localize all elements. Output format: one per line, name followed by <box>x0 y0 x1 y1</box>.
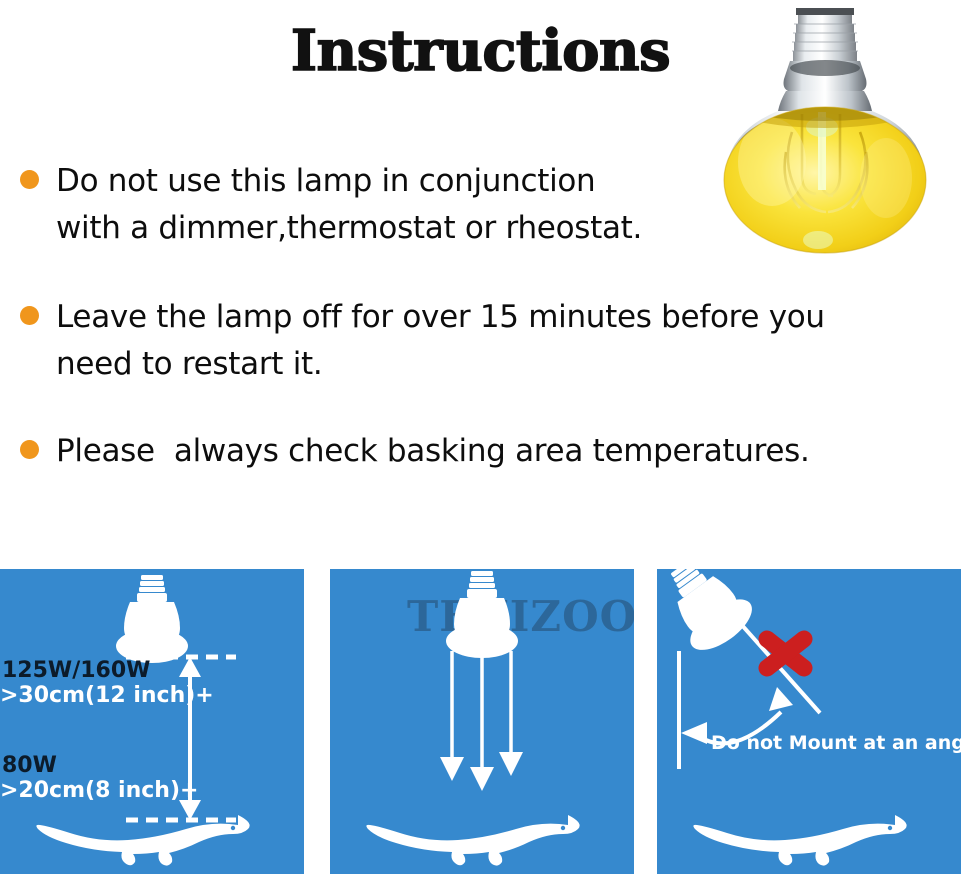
red-x-icon <box>767 639 804 668</box>
watermark-tekizoo: TEKIZOO <box>407 592 634 641</box>
instruction-bullet: Leave the lamp off for over 15 minutes b… <box>14 294 944 388</box>
direct-mount-diagram: TEKIZOO <box>330 569 634 874</box>
mounting-distance-diagram: 125W/160W >30cm(12 inch)+ 80W >20cm(8 in… <box>0 569 304 874</box>
distance-label-high: >30cm(12 inch)+ <box>0 683 214 708</box>
instruction-text: Please always check basking area tempera… <box>56 428 944 475</box>
lizard-icon <box>693 815 906 866</box>
wattage-label-low: 80W <box>2 753 57 778</box>
instruction-bullet: Please always check basking area tempera… <box>14 428 944 475</box>
distance-label-low: >20cm(8 inch)+ <box>0 778 198 803</box>
no-angle-caption: Do not Mount at an angle <box>711 732 961 754</box>
wattage-label-high: 125W/160W <box>2 658 150 683</box>
instruction-list: Do not use this lamp in conjunction with… <box>14 158 944 509</box>
bullet-dot-icon <box>20 440 39 459</box>
bulb-icon <box>116 575 188 663</box>
lizard-icon <box>36 815 249 866</box>
bulb-icon <box>446 571 518 658</box>
tilted-bulb-icon <box>657 569 760 660</box>
instruction-bullet: Do not use this lamp in conjunction with… <box>14 158 944 252</box>
lizard-icon <box>366 815 579 866</box>
no-angle-mount-diagram: Do not Mount at an angle <box>657 569 961 874</box>
down-arrow-icon <box>440 651 523 791</box>
instruction-text: Leave the lamp off for over 15 minutes b… <box>56 294 944 388</box>
instruction-text: Do not use this lamp in conjunction with… <box>56 158 944 252</box>
bullet-dot-icon <box>20 170 39 189</box>
bullet-dot-icon <box>20 306 39 325</box>
